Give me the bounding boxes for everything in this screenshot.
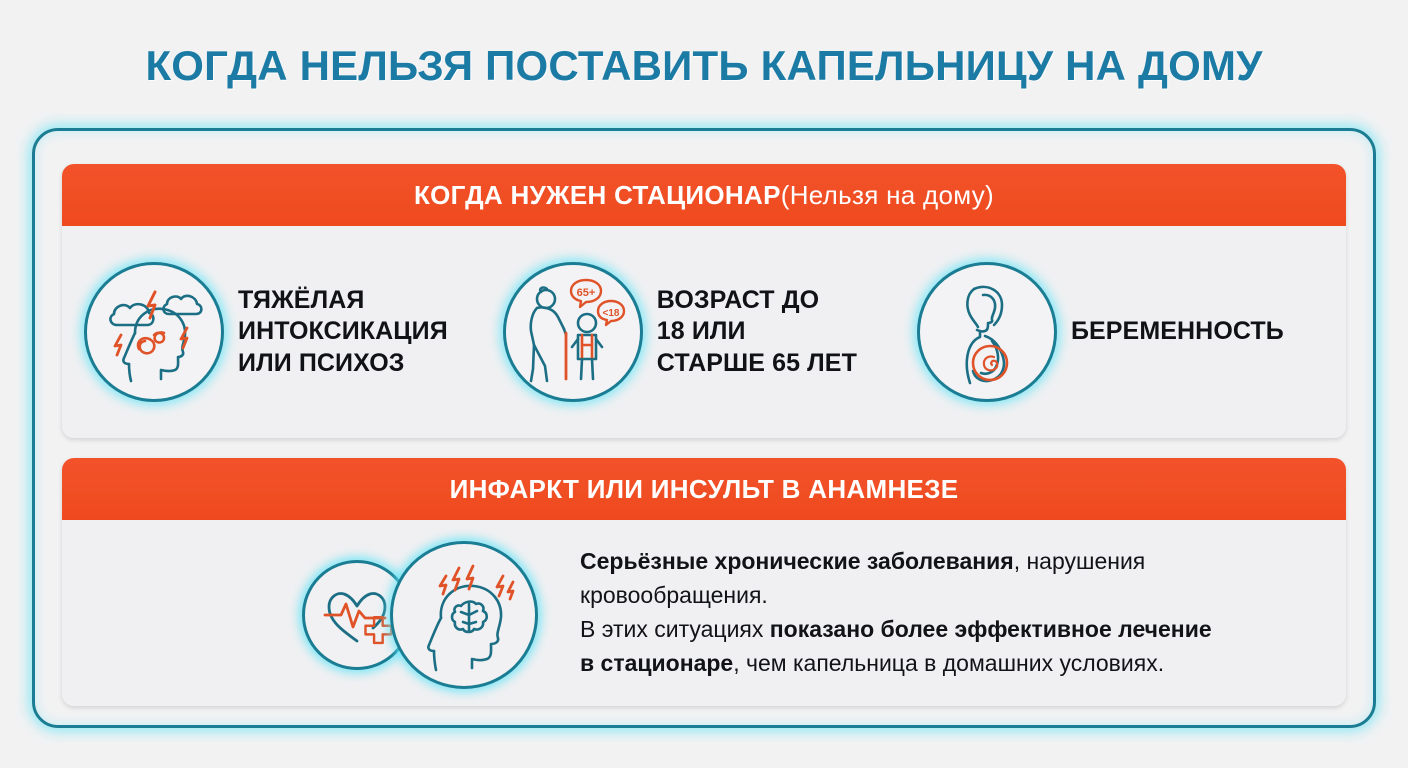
group-b-paragraph: Серьёзные хронические заболевания, наруш… [580, 545, 1212, 680]
group-a-header-bar: КОГДА НУЖЕН СТАЦИОНАР (Нельзя на дому) [62, 164, 1346, 226]
group-b-header-bar: ИНФАРКТ ИЛИ ИНСУЛЬТ В АНАМНЕЗЕ [62, 458, 1346, 520]
head-brain-lightning-icon [390, 541, 538, 689]
paragraph-line-2: кровообращения. [580, 579, 1212, 613]
group-a-header-light: (Нельзя на дому) [781, 180, 994, 211]
paragraph-line-4-rest: , чем капельница в домашних условиях. [733, 650, 1164, 676]
svg-text:<18: <18 [602, 308, 619, 319]
page-title: КОГДА НЕЛЬЗЯ ПОСТАВИТЬ КАПЕЛЬНИЦУ НА ДОМ… [0, 42, 1408, 90]
paragraph-line-3: В этих ситуациях показано более эффектив… [580, 613, 1212, 647]
item-severe-intoxication: ТЯЖЁЛАЯ ИНТОКСИКАЦИЯ ИЛИ ПСИХОЗ [84, 262, 448, 402]
item-label-intoxication: ТЯЖЁЛАЯ ИНТОКСИКАЦИЯ ИЛИ ПСИХОЗ [238, 285, 448, 380]
paragraph-line-1-rest: , нарушения [1014, 548, 1146, 574]
pregnant-woman-icon [917, 262, 1057, 402]
item-label-pregnancy: БЕРЕМЕННОСТЬ [1071, 316, 1284, 348]
group-b-panel: Серьёзные хронические заболевания, наруш… [62, 520, 1346, 706]
group-b-header-bold: ИНФАРКТ ИЛИ ИНСУЛЬТ В АНАМНЕЗЕ [450, 474, 959, 505]
group-b-icon-pair [302, 538, 552, 688]
item-age-range: 65+ <18 ВОЗРАСТ ДО 18 ИЛИ СТАРШЕ 65 ЛЕТ [503, 262, 857, 402]
head-storm-psychosis-icon [84, 262, 224, 402]
group-a-panel: ТЯЖЁЛАЯ ИНТОКСИКАЦИЯ ИЛИ ПСИХОЗ [62, 226, 1346, 438]
group-heart-attack-stroke-history: ИНФАРКТ ИЛИ ИНСУЛЬТ В АНАМНЕЗЕ [62, 458, 1346, 706]
svg-text:65+: 65+ [576, 287, 595, 299]
paragraph-line-1-bold: Серьёзные хронические заболевания [580, 548, 1014, 574]
paragraph-line-3-plain: В этих ситуациях [580, 616, 770, 642]
elderly-and-child-age-icon: 65+ <18 [503, 262, 643, 402]
paragraph-line-3-bold: показано более эффективное лечение [770, 616, 1212, 642]
paragraph-line-4-bold: в стационаре [580, 650, 733, 676]
item-pregnancy: БЕРЕМЕННОСТЬ [917, 262, 1284, 402]
group-hospital-required: КОГДА НУЖЕН СТАЦИОНАР (Нельзя на дому) [62, 164, 1346, 438]
paragraph-line-1: Серьёзные хронические заболевания, наруш… [580, 545, 1212, 579]
group-a-header-bold: КОГДА НУЖЕН СТАЦИОНАР [414, 180, 781, 211]
item-label-age: ВОЗРАСТ ДО 18 ИЛИ СТАРШЕ 65 ЛЕТ [657, 285, 857, 380]
paragraph-line-4: в стационаре, чем капельница в домашних … [580, 647, 1212, 681]
